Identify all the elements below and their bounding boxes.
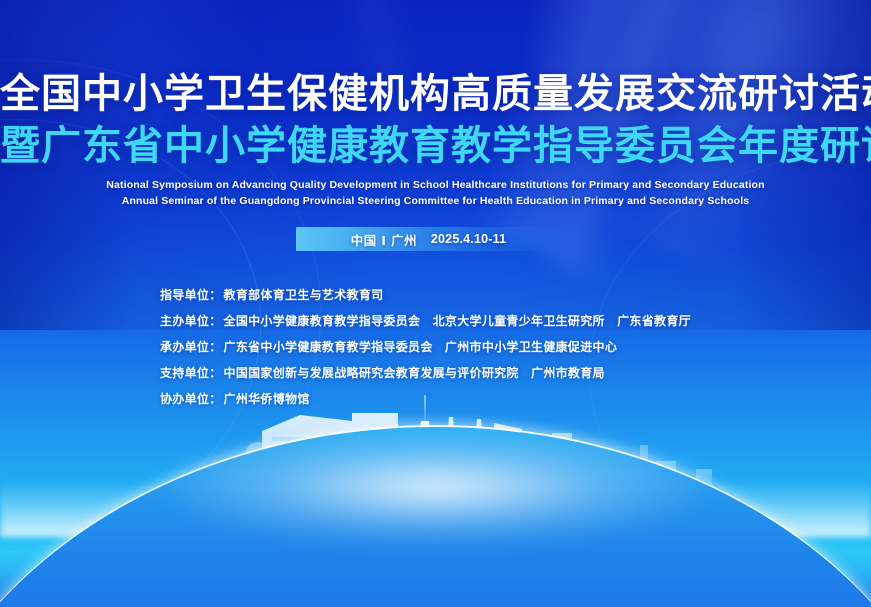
location-label: 中国 I 广州 [351, 230, 417, 249]
organization-row: 主办单位：全国中小学健康教育教学指导委员会 北京大学儿童青少年卫生研究所 广东省… [160, 315, 691, 327]
organization-label: 主办单位： [160, 314, 222, 328]
organization-label: 协办单位： [160, 392, 222, 406]
organization-row: 承办单位：广东省中小学健康教育教学指导委员会 广州市中小学卫生健康促进中心 [160, 341, 691, 353]
date-location-text: 中国 I 广州 2025.4.10-11 [296, 227, 561, 251]
title-block: 全国中小学卫生保健机构高质量发展交流研讨活动 暨广东省中小学健康教育教学指导委员… [0, 72, 871, 169]
english-subtitle: National Symposium on Advancing Quality … [0, 178, 871, 210]
organization-value: 全国中小学健康教育教学指导委员会 北京大学儿童青少年卫生研究所 广东省教育厅 [224, 314, 691, 328]
organization-label: 承办单位： [160, 340, 222, 354]
english-subtitle-line-1: National Symposium on Advancing Quality … [0, 178, 871, 194]
organization-label: 支持单位： [160, 366, 222, 380]
page-title: 全国中小学卫生保健机构高质量发展交流研讨活动 [0, 72, 871, 118]
organization-row: 指导单位：教育部体育卫生与艺术教育司 [160, 289, 691, 301]
date-label: 2025.4.10-11 [431, 232, 506, 246]
organization-label: 指导单位： [160, 288, 222, 302]
organization-row: 支持单位：中国国家创新与发展战略研究会教育发展与评价研究院 广州市教育局 [160, 367, 691, 379]
organization-row: 协办单位：广州华侨博物馆 [160, 393, 691, 405]
organization-value: 广州华侨博物馆 [224, 392, 310, 406]
organization-value: 教育部体育卫生与艺术教育司 [224, 288, 384, 302]
organization-value: 中国国家创新与发展战略研究会教育发展与评价研究院 广州市教育局 [224, 366, 605, 380]
english-subtitle-line-2: Annual Seminar of the Guangdong Provinci… [0, 194, 871, 210]
organizations-list: 指导单位：教育部体育卫生与艺术教育司 主办单位：全国中小学健康教育教学指导委员会… [160, 289, 691, 419]
conference-poster: 全国中小学卫生保健机构高质量发展交流研讨活动 暨广东省中小学健康教育教学指导委员… [0, 0, 871, 607]
page-subtitle-chinese: 暨广东省中小学健康教育教学指导委员会年度研讨活动 [0, 124, 871, 170]
organization-value: 广东省中小学健康教育教学指导委员会 广州市中小学卫生健康促进中心 [224, 340, 618, 354]
